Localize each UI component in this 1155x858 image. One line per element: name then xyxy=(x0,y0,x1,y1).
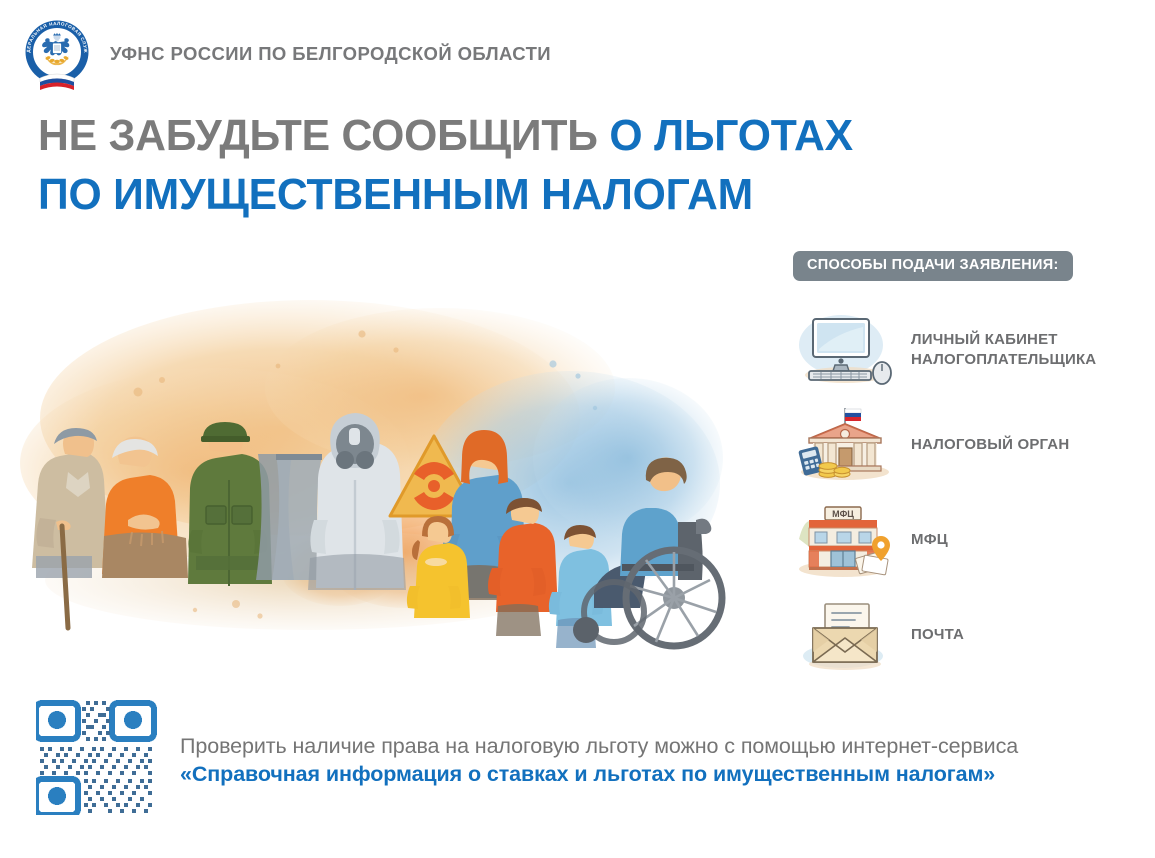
footer-line-2: «Справочная информация о ставках и льгот… xyxy=(180,761,1018,787)
headline-line-2-text: ПО ИМУЩЕСТВЕННЫМ НАЛОГАМ xyxy=(38,170,753,219)
method-label-post: ПОЧТА xyxy=(911,625,964,645)
method-label-personal-account: ЛИЧНЫЙ КАБИНЕТ НАЛОГОПЛАТЕЛЬЩИКА xyxy=(911,330,1096,370)
method-label-line1: НАЛОГОВЫЙ ОРГАН xyxy=(911,436,1069,453)
footer-line-1: Проверить наличие права на налоговую льг… xyxy=(180,733,1018,759)
method-item-post[interactable]: ПОЧТА xyxy=(793,588,1143,683)
headline-line-1: НЕ ЗАБУДЬТЕ СООБЩИТЬ О ЛЬГОТАХ xyxy=(38,114,892,159)
methods-list: ЛИЧНЫЙ КАБИНЕТ НАЛОГОПЛАТЕЛЬЩИКА xyxy=(793,303,1143,683)
headline-part-gray: НЕ ЗАБУДЬТЕ СООБЩИТЬ xyxy=(38,111,609,160)
desktop-computer-icon xyxy=(793,309,897,391)
footer: Проверить наличие права на налоговую льг… xyxy=(36,697,1018,815)
method-item-mfc[interactable]: МФЦ xyxy=(793,493,1143,588)
mfc-building-icon: МФЦ xyxy=(793,499,897,581)
method-label-mfc: МФЦ xyxy=(911,530,948,550)
qr-code-icon[interactable] xyxy=(36,697,158,815)
method-label-line1: ПОЧТА xyxy=(911,626,964,643)
header-title: УФНС РОССИИ ПО БЕЛГОРОДСКОЙ ОБЛАСТИ xyxy=(110,43,551,64)
fns-emblem-icon: ФЕДЕРАЛЬНАЯ НАЛОГОВАЯ СЛУЖБА xyxy=(18,12,96,94)
method-label-line1: ЛИЧНЫЙ КАБИНЕТ xyxy=(911,331,1058,348)
method-label-line2: НАЛОГОПЛАТЕЛЬЩИКА xyxy=(911,350,1096,370)
svg-text:МФЦ: МФЦ xyxy=(832,509,854,519)
header: ФЕДЕРАЛЬНАЯ НАЛОГОВАЯ СЛУЖБА xyxy=(18,12,551,94)
footer-text-block: Проверить наличие права на налоговую льг… xyxy=(180,697,1018,787)
government-building-icon xyxy=(793,404,897,486)
method-item-tax-authority[interactable]: НАЛОГОВЫЙ ОРГАН xyxy=(793,398,1143,493)
method-item-personal-account[interactable]: ЛИЧНЫЙ КАБИНЕТ НАЛОГОПЛАТЕЛЬЩИКА xyxy=(793,303,1143,398)
envelope-mail-icon xyxy=(793,594,897,676)
page-title: НЕ ЗАБУДЬТЕ СООБЩИТЬ О ЛЬГОТАХ ПО ИМУЩЕС… xyxy=(38,114,918,218)
method-label-line1: МФЦ xyxy=(911,531,948,548)
headline-part-blue: О ЛЬГОТАХ xyxy=(609,111,852,160)
methods-panel: СПОСОБЫ ПОДАЧИ ЗАЯВЛЕНИЯ: xyxy=(793,251,1143,683)
headline-line-2: ПО ИМУЩЕСТВЕННЫМ НАЛОГАМ xyxy=(38,173,892,218)
method-label-tax-authority: НАЛОГОВЫЙ ОРГАН xyxy=(911,435,1069,455)
methods-badge: СПОСОБЫ ПОДАЧИ ЗАЯВЛЕНИЯ: xyxy=(793,251,1073,281)
poster-root: ФЕДЕРАЛЬНАЯ НАЛОГОВАЯ СЛУЖБА xyxy=(0,0,1155,858)
watercolor-beneficiaries-illustration xyxy=(10,268,770,658)
